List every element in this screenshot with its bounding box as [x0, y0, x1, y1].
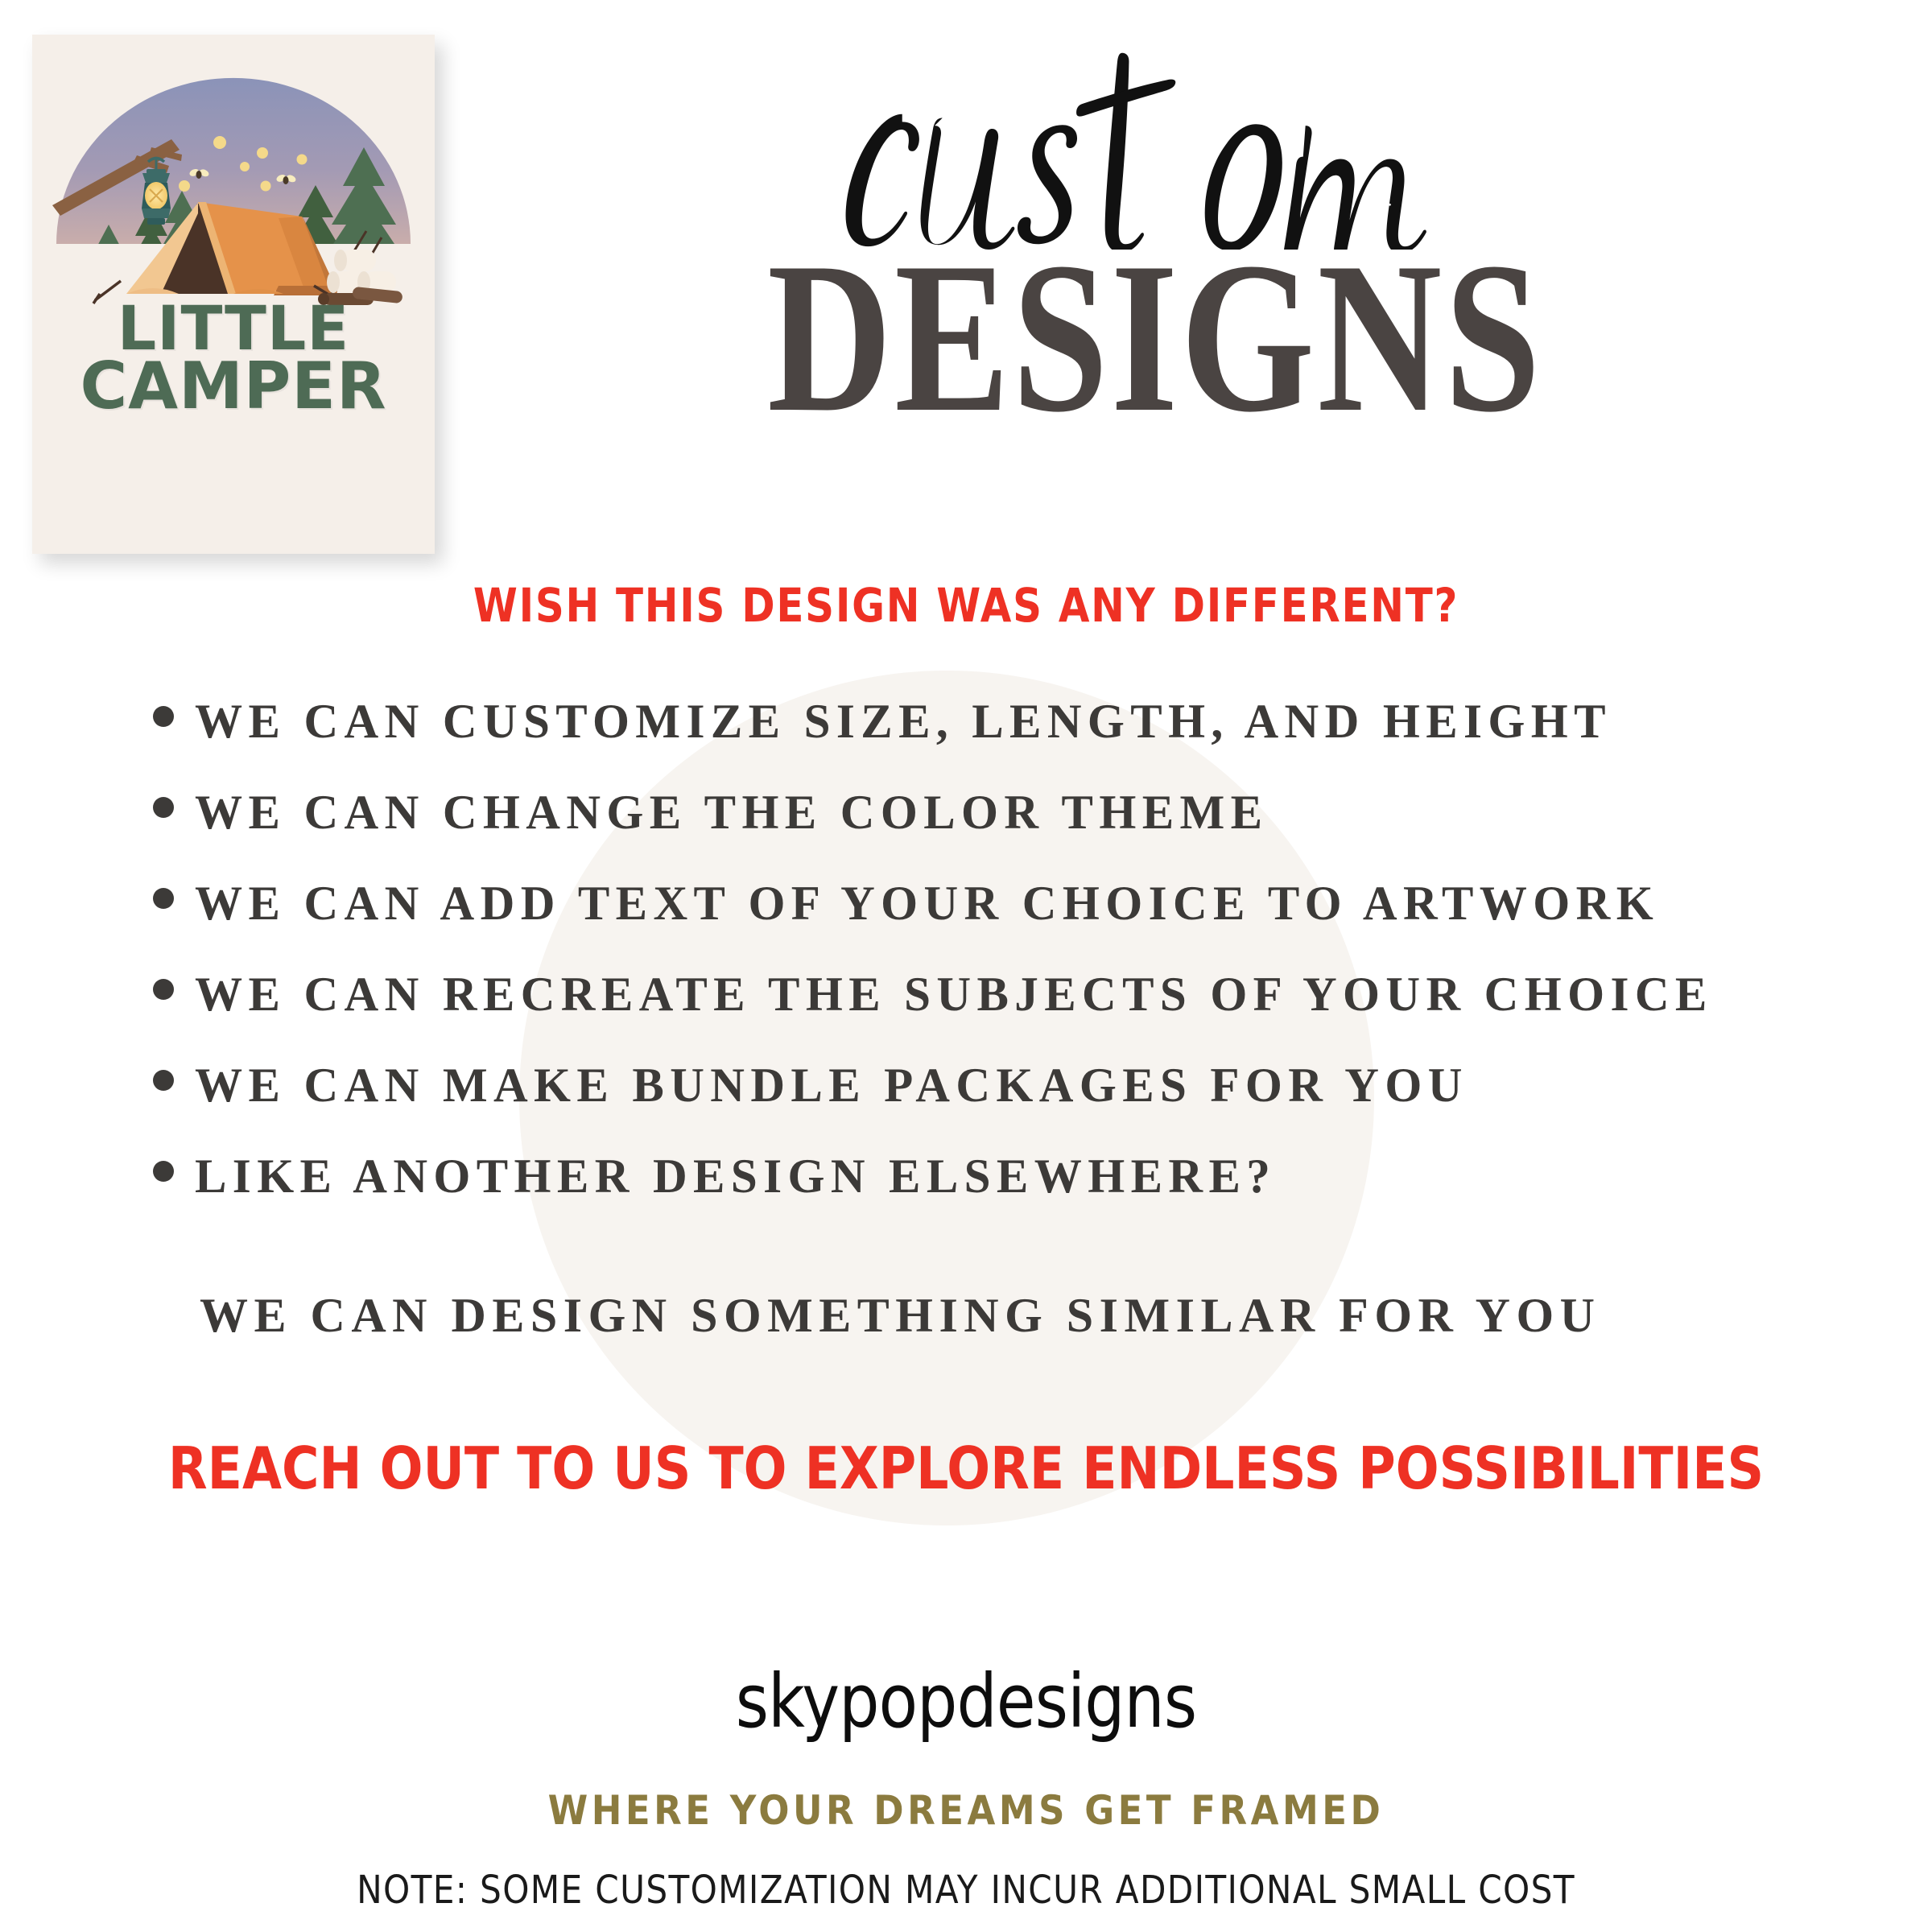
benefit-label: WE CAN RECREATE THE SUBJECTS OF YOUR CHO… [195, 967, 1713, 1022]
shop-tagline: WHERE YOUR DREAMS GET FRAMED [97, 1787, 1835, 1834]
bullet-dot-icon [153, 1070, 174, 1091]
shop-name: skypopdesigns [135, 1658, 1797, 1744]
benefit-followup-line: WE CAN DESIGN SOMETHING SIMILAR FOR YOU [200, 1288, 1600, 1344]
designs-heading: DESIGNS [579, 245, 1732, 430]
list-item: LIKE ANOTHER DESIGN ELSEWHERE? [153, 1149, 1860, 1240]
camping-tent-illustration [32, 44, 435, 318]
tagline-question: WISH THIS DESIGN WAS ANY DIFFERENT? [135, 578, 1797, 633]
product-preview-card: LITTLE CAMPER [32, 35, 435, 554]
promo-graphic: LITTLE CAMPER [0, 0, 1932, 1932]
product-brand-title: LITTLE CAMPER [32, 300, 435, 416]
list-item: WE CAN MAKE BUNDLE PACKAGES FOR YOU [153, 1058, 1860, 1149]
bullet-dot-icon [153, 797, 174, 818]
list-item: WE CAN CUSTOMIZE SIZE, LENGTH, AND HEIGH… [153, 694, 1860, 785]
call-to-action-line: REACH OUT TO US TO EXPLORE ENDLESS POSSI… [116, 1435, 1816, 1502]
list-item: WE CAN RECREATE THE SUBJECTS OF YOUR CHO… [153, 967, 1860, 1058]
benefit-label: WE CAN MAKE BUNDLE PACKAGES FOR YOU [195, 1058, 1468, 1113]
bullet-dot-icon [153, 706, 174, 727]
bullet-dot-icon [153, 888, 174, 909]
benefit-label: WE CAN CUSTOMIZE SIZE, LENGTH, AND HEIGH… [195, 694, 1612, 749]
brand-line-2: CAMPER [32, 357, 435, 416]
benefit-label: WE CAN ADD TEXT OF YOUR CHOICE TO ARTWOR… [195, 876, 1659, 931]
bullet-dot-icon [153, 979, 174, 1000]
benefit-label: WE CAN CHANGE THE COLOR THEME [195, 785, 1268, 840]
list-item: WE CAN ADD TEXT OF YOUR CHOICE TO ARTWOR… [153, 876, 1860, 967]
footnote-disclaimer: NOTE: SOME CUSTOMIZATION MAY INCUR ADDIT… [116, 1868, 1816, 1913]
benefit-label: LIKE ANOTHER DESIGN ELSEWHERE? [195, 1149, 1276, 1204]
bullet-dot-icon [153, 1161, 174, 1182]
list-item: WE CAN CHANGE THE COLOR THEME [153, 785, 1860, 876]
headline-block: DESIGNS [435, 48, 1876, 430]
benefits-list: WE CAN CUSTOMIZE SIZE, LENGTH, AND HEIGH… [153, 694, 1860, 1240]
